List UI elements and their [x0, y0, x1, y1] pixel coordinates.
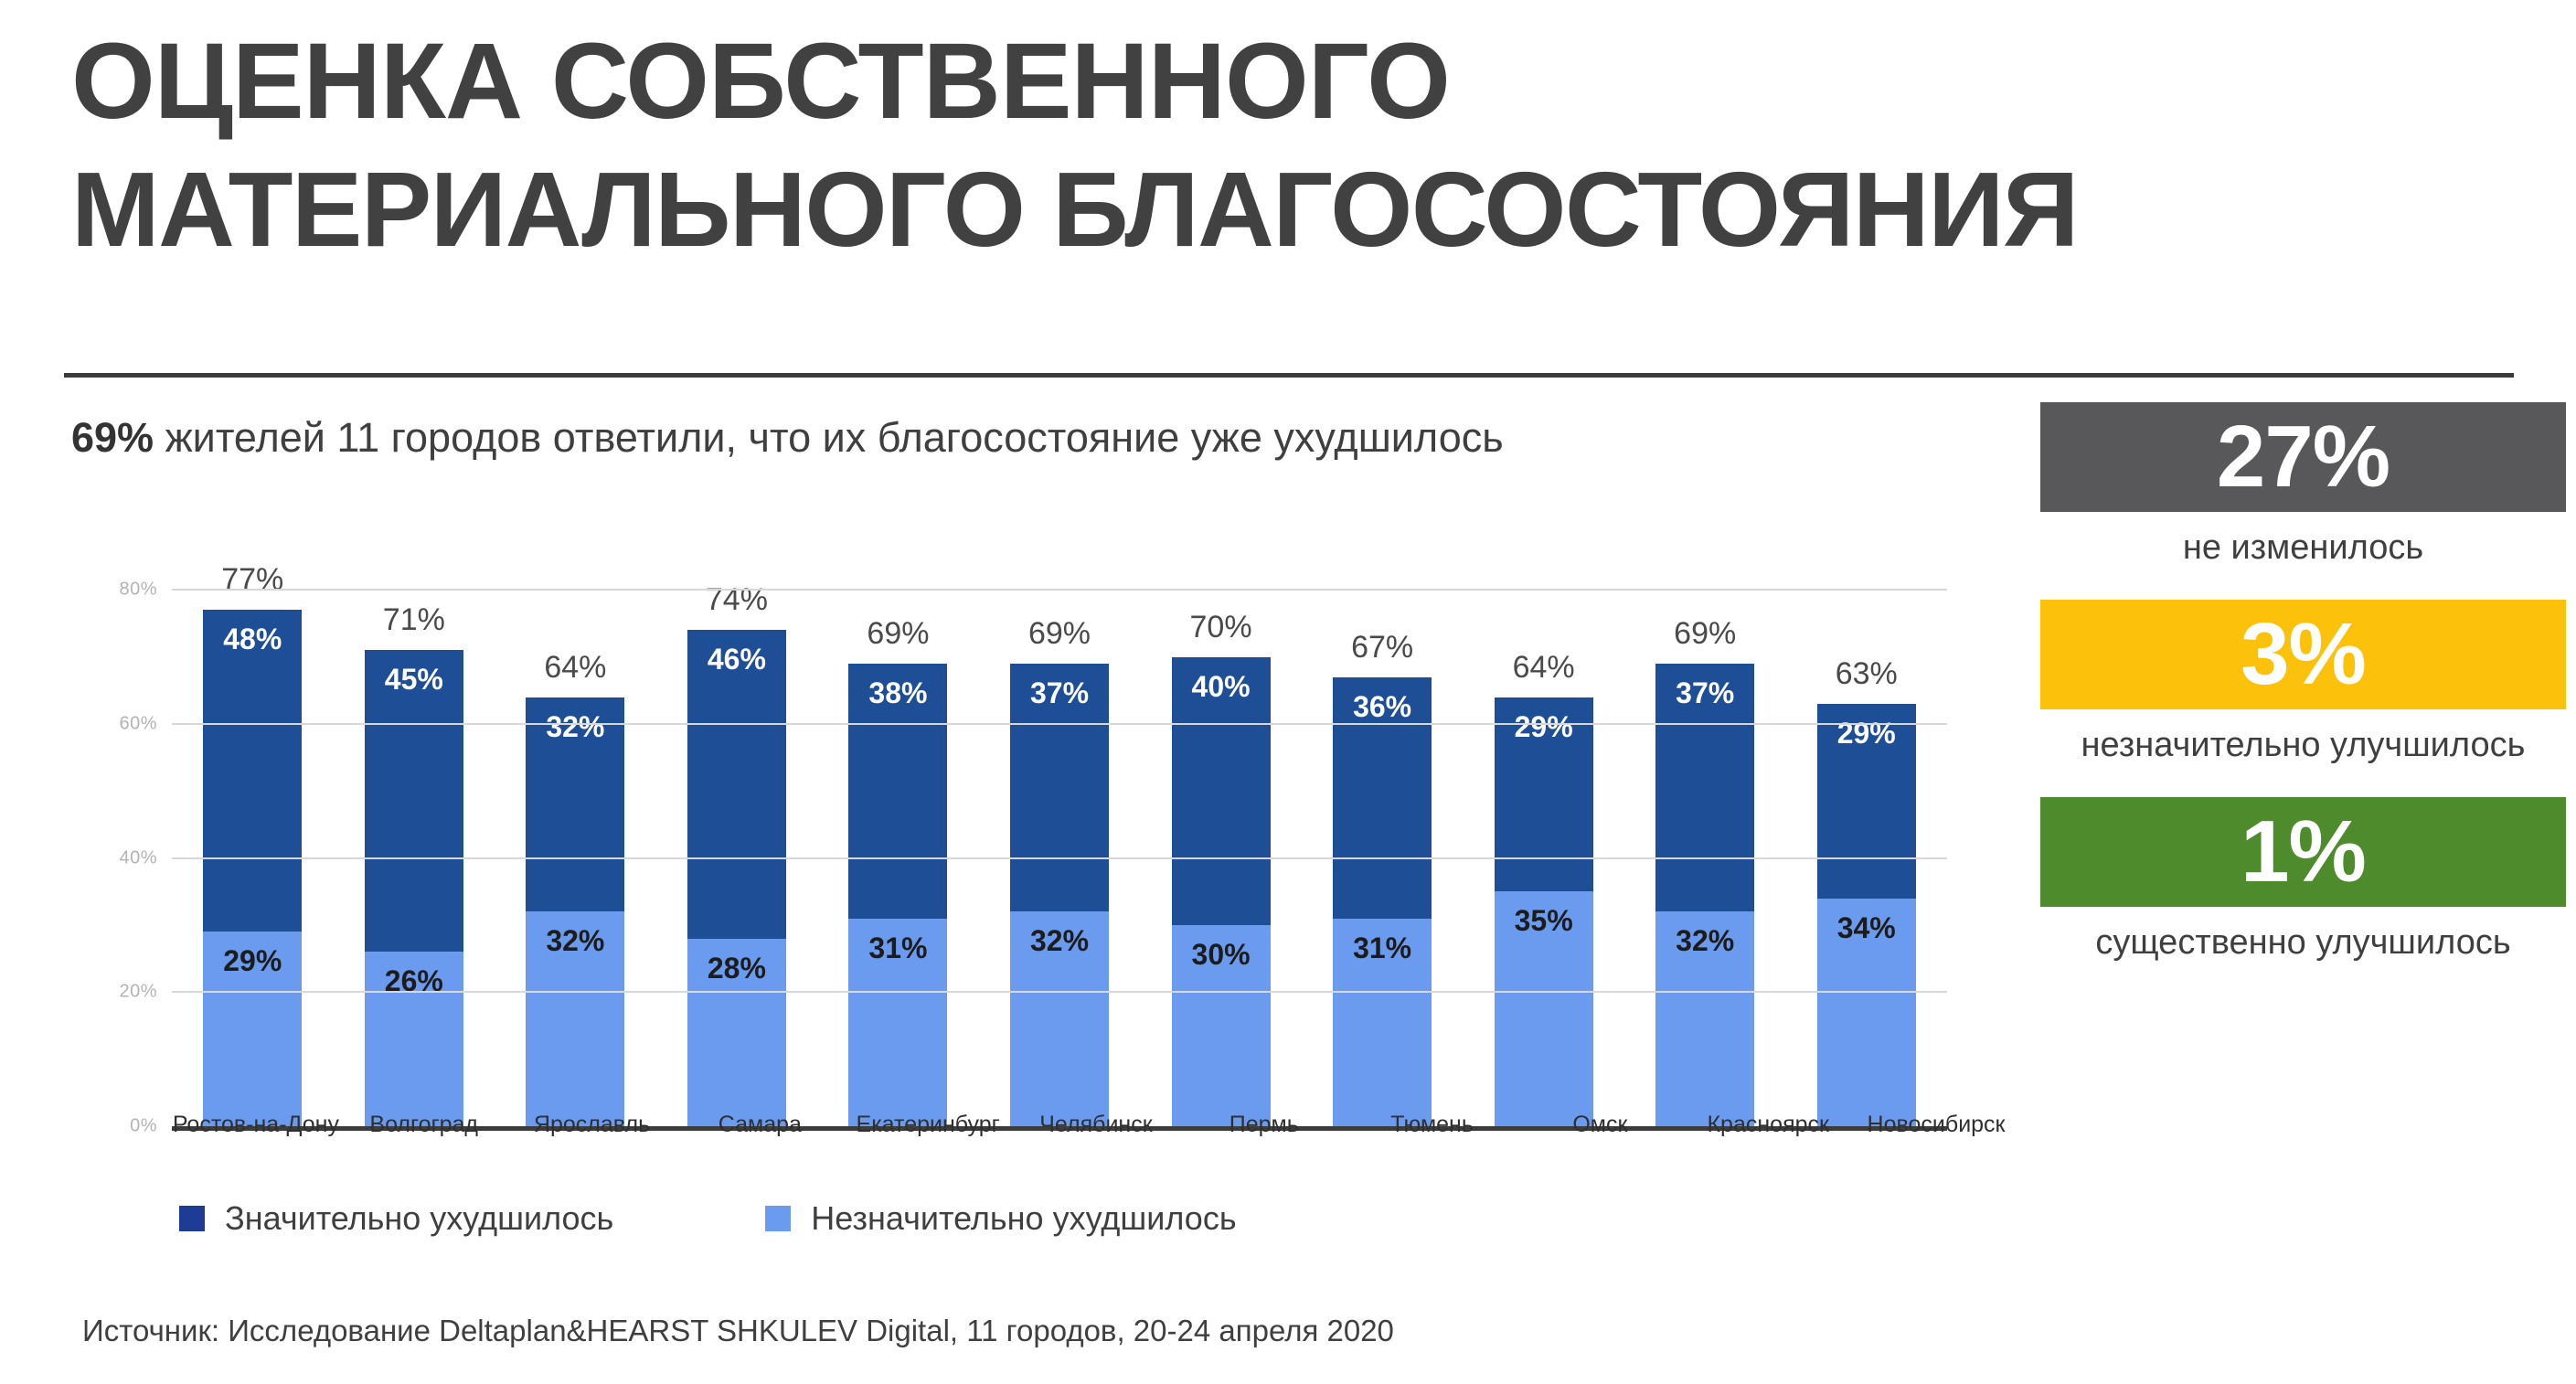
- bar-segment-significantly-worse[interactable]: 32%: [526, 697, 624, 912]
- gridline: [172, 991, 1947, 993]
- bar-total-label: 64%: [1513, 650, 1575, 686]
- stacked-bar[interactable]: 32%32%: [526, 697, 624, 1126]
- bar-segment-label: 37%: [1030, 678, 1089, 708]
- bar-segment-label: 36%: [1353, 692, 1411, 721]
- bar-segment-significantly-worse[interactable]: 46%: [687, 630, 786, 938]
- summary-card-band-slightly-improved: 3%: [2040, 600, 2566, 709]
- stacked-bar[interactable]: 37%32%: [1655, 664, 1754, 1126]
- bar-group[interactable]: 64%29%35%: [1463, 523, 1624, 1126]
- bar-total-label: 63%: [1836, 656, 1898, 692]
- bar-segment-label: 29%: [223, 946, 282, 975]
- bar-segment-significantly-worse[interactable]: 38%: [848, 664, 947, 919]
- bar-segment-label: 32%: [546, 712, 604, 741]
- y-axis-tick: 40%: [119, 847, 157, 868]
- subtitle-highlight: 69%: [71, 414, 154, 461]
- bar-group[interactable]: 69%37%32%: [979, 523, 1141, 1126]
- summary-card-caption-unchanged: не изменилось: [2040, 527, 2566, 569]
- bar-segment-label: 32%: [1676, 926, 1734, 955]
- bar-segment-label: 37%: [1676, 678, 1734, 708]
- bar-segment-label: 35%: [1515, 906, 1573, 935]
- stacked-bar[interactable]: 48%29%: [203, 610, 302, 1126]
- legend-item-slightly-worse: Незначительно ухудшилось: [765, 1199, 1236, 1238]
- x-axis-label: Омск: [1517, 1112, 1685, 1138]
- summary-card-unchanged: 27% не изменилось: [2040, 402, 2566, 569]
- stacked-bar[interactable]: 46%28%: [687, 630, 786, 1126]
- stacked-bar[interactable]: 29%34%: [1817, 704, 1916, 1126]
- y-axis-tick: 20%: [119, 982, 157, 1003]
- bar-segment-slightly-worse[interactable]: 35%: [1495, 891, 1593, 1126]
- gridline: [172, 723, 1947, 725]
- stacked-bar[interactable]: 37%32%: [1010, 664, 1109, 1126]
- header-divider: [64, 373, 2514, 378]
- bar-segment-label: 40%: [1192, 672, 1251, 701]
- bar-total-label: 70%: [1190, 610, 1252, 645]
- page-header: ОЦЕНКА СОБСТВЕННОГО МАТЕРИАЛЬНОГО БЛАГОС…: [71, 27, 2539, 263]
- bar-segment-label: 31%: [1353, 933, 1411, 963]
- bar-segment-significantly-worse[interactable]: 37%: [1655, 664, 1754, 911]
- bar-segment-label: 31%: [868, 933, 927, 963]
- summary-cards: 27% не изменилось 3% незначительно улучш…: [2040, 402, 2566, 982]
- bar-group[interactable]: 77%48%29%: [172, 523, 334, 1126]
- bar-segment-slightly-worse[interactable]: 32%: [1010, 911, 1109, 1126]
- x-axis-label: Красноярск: [1684, 1112, 1852, 1138]
- stacked-bar[interactable]: 45%26%: [365, 650, 463, 1126]
- x-axis-label: Самара: [676, 1112, 844, 1138]
- y-axis-tick: 60%: [119, 714, 157, 735]
- summary-card-value-slightly-improved: 3%: [2241, 611, 2366, 698]
- bar-group[interactable]: 74%46%28%: [656, 523, 818, 1126]
- bar-segment-label: 32%: [546, 926, 604, 955]
- x-axis-label: Новосибирск: [1852, 1112, 2020, 1138]
- bar-segment-slightly-worse[interactable]: 32%: [1655, 911, 1754, 1126]
- bar-segment-label: 38%: [868, 678, 927, 708]
- stacked-bar[interactable]: 29%35%: [1495, 697, 1593, 1126]
- bar-segment-slightly-worse[interactable]: 29%: [203, 932, 302, 1126]
- gridline: [172, 857, 1947, 859]
- x-axis-label: Тюмень: [1348, 1112, 1517, 1138]
- page-title-line1: ОЦЕНКА СОБСТВЕННОГО: [71, 27, 2539, 135]
- y-axis-tick: 80%: [119, 580, 157, 601]
- summary-card-significantly-improved: 1% существенно улучшилось: [2040, 797, 2566, 963]
- x-axis-label: Челябинск: [1012, 1112, 1180, 1138]
- x-axis-label: Ярославль: [508, 1112, 676, 1138]
- stacked-bar[interactable]: 36%31%: [1333, 677, 1432, 1126]
- bar-segment-significantly-worse[interactable]: 40%: [1172, 657, 1271, 925]
- bar-segment-label: 29%: [1515, 712, 1573, 741]
- bar-series-container: 77%48%29%71%45%26%64%32%32%74%46%28%69%3…: [172, 523, 1947, 1126]
- bar-segment-label: 28%: [708, 953, 766, 983]
- bar-total-label: 77%: [221, 562, 283, 598]
- bar-segment-significantly-worse[interactable]: 48%: [203, 610, 302, 932]
- bar-group[interactable]: 64%32%32%: [495, 523, 656, 1126]
- x-axis-label: Волгоград: [340, 1112, 508, 1138]
- bar-segment-significantly-worse[interactable]: 45%: [365, 650, 463, 952]
- bar-total-label: 74%: [706, 582, 768, 618]
- x-axis-label: Ростов-на-Дону: [172, 1112, 340, 1138]
- subtitle: 69% жителей 11 городов ответили, что их …: [71, 413, 1504, 463]
- summary-card-value-unchanged: 27%: [2217, 413, 2390, 501]
- legend-swatch-icon-dark: [179, 1206, 205, 1231]
- bar-group[interactable]: 63%29%34%: [1785, 523, 1947, 1126]
- x-axis-labels: Ростов-на-ДонуВолгоградЯрославльСамараЕк…: [172, 1112, 2020, 1138]
- bar-chart: 0%20%40%60%80% 77%48%29%71%45%26%64%32%3…: [71, 523, 1973, 1126]
- y-axis-tick: 0%: [130, 1116, 157, 1137]
- bar-segment-slightly-worse[interactable]: 32%: [526, 911, 624, 1126]
- subtitle-rest: жителей 11 городов ответили, что их благ…: [154, 414, 1504, 461]
- summary-card-caption-significantly-improved: существенно улучшилось: [2040, 921, 2566, 963]
- x-axis-label: Пермь: [1180, 1112, 1348, 1138]
- bar-total-label: 64%: [544, 650, 606, 686]
- page-title-line2: МАТЕРИАЛЬНОГО БЛАГОСОСТОЯНИЯ: [71, 155, 2539, 263]
- bar-segment-significantly-worse[interactable]: 29%: [1817, 704, 1916, 899]
- bar-segment-label: 48%: [223, 624, 282, 654]
- bar-segment-slightly-worse[interactable]: 28%: [687, 939, 786, 1126]
- bar-group[interactable]: 67%36%31%: [1302, 523, 1464, 1126]
- bar-total-label: 69%: [1674, 616, 1736, 652]
- stacked-bar[interactable]: 38%31%: [848, 664, 947, 1126]
- source-note: Источник: Исследование Deltaplan&HEARST …: [82, 1314, 1394, 1348]
- stacked-bar[interactable]: 40%30%: [1172, 657, 1271, 1126]
- legend-item-significantly-worse: Значительно ухудшилось: [179, 1199, 613, 1238]
- bar-total-label: 69%: [867, 616, 929, 652]
- summary-card-caption-slightly-improved: незначительно улучшилось: [2040, 724, 2566, 766]
- bar-group[interactable]: 69%37%32%: [1624, 523, 1786, 1126]
- bar-group[interactable]: 70%40%30%: [1140, 523, 1302, 1126]
- summary-card-band-significantly-improved: 1%: [2040, 797, 2566, 907]
- bar-segment-label: 45%: [385, 665, 443, 694]
- bar-segment-significantly-worse[interactable]: 29%: [1495, 697, 1593, 892]
- bar-total-label: 67%: [1351, 630, 1413, 665]
- bar-segment-label: 34%: [1837, 913, 1896, 942]
- bar-segment-label: 46%: [708, 644, 766, 674]
- bar-segment-significantly-worse[interactable]: 36%: [1333, 677, 1432, 919]
- legend-label-light: Незначительно ухудшилось: [811, 1199, 1236, 1238]
- bar-segment-slightly-worse[interactable]: 30%: [1172, 925, 1271, 1126]
- x-axis-label: Екатеринбург: [844, 1112, 1012, 1138]
- bar-segment-label: 30%: [1192, 940, 1251, 969]
- bar-segment-significantly-worse[interactable]: 37%: [1010, 664, 1109, 911]
- y-axis: 0%20%40%60%80%: [71, 523, 170, 1126]
- bar-total-label: 71%: [383, 602, 445, 638]
- bar-segment-slightly-worse[interactable]: 34%: [1817, 899, 1916, 1126]
- bar-group[interactable]: 71%45%26%: [334, 523, 495, 1126]
- bar-segment-slightly-worse[interactable]: 31%: [848, 919, 947, 1126]
- legend-label-dark: Значительно ухудшилось: [225, 1199, 613, 1238]
- bar-group[interactable]: 69%38%31%: [817, 523, 979, 1126]
- bar-segment-slightly-worse[interactable]: 26%: [365, 952, 463, 1126]
- chart-legend: Значительно ухудшилось Незначительно уху…: [179, 1199, 1237, 1238]
- gridline: [172, 589, 1947, 591]
- bar-segment-slightly-worse[interactable]: 31%: [1333, 919, 1432, 1126]
- summary-card-band-unchanged: 27%: [2040, 402, 2566, 512]
- legend-swatch-icon-light: [765, 1206, 791, 1231]
- bar-total-label: 69%: [1028, 616, 1091, 652]
- summary-card-value-significantly-improved: 1%: [2241, 808, 2366, 896]
- summary-card-slightly-improved: 3% незначительно улучшилось: [2040, 600, 2566, 766]
- bar-segment-label: 32%: [1030, 926, 1089, 955]
